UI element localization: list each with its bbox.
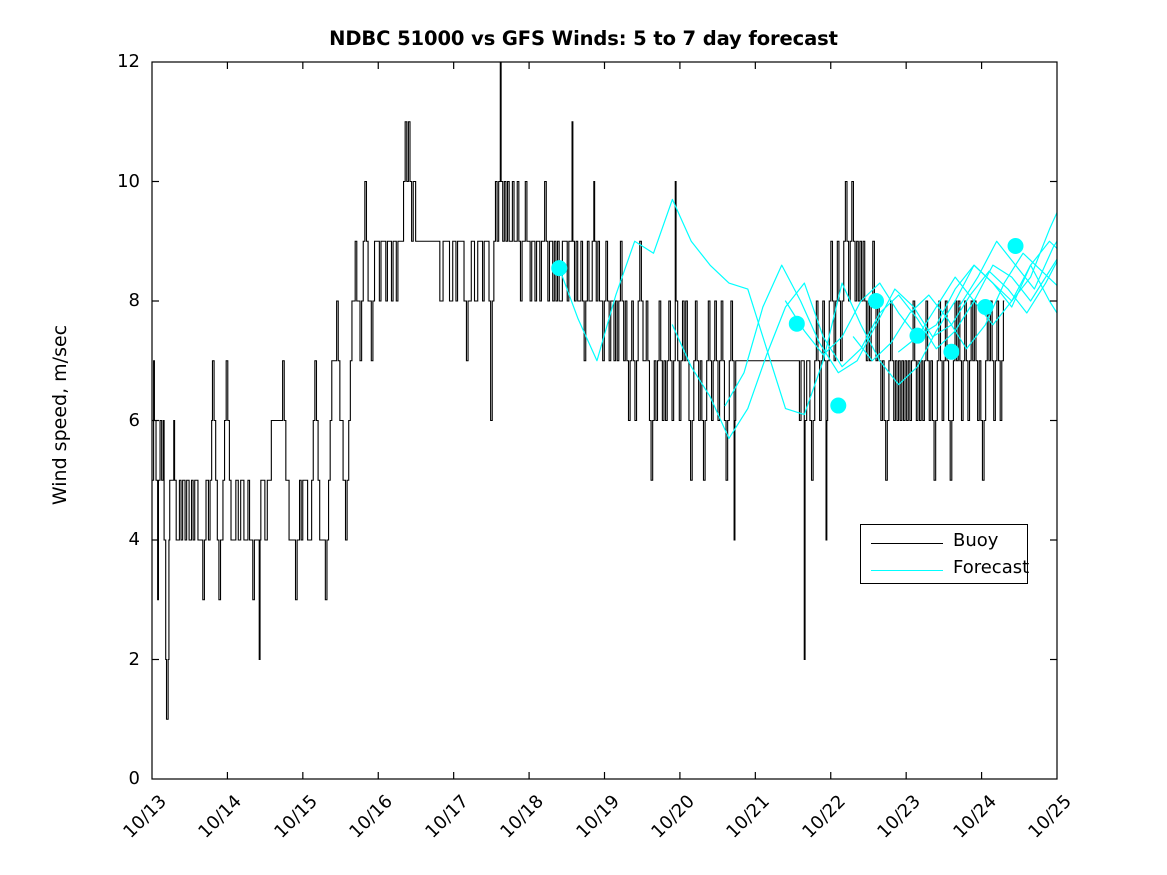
forecast-marker-8 [1008,239,1023,254]
forecast-marker-2 [789,316,804,331]
chart-figure: NDBC 51000 vs GFS Winds: 5 to 7 day fore… [0,0,1167,875]
legend-entry-buoy: Buoy [861,531,1029,557]
forecast-series-line-7 [959,217,1148,307]
plot-area [0,0,1167,875]
legend-label-forecast: Forecast [953,557,1029,578]
chart-legend: BuoyForecast [860,524,1028,584]
legend-entry-forecast: Forecast [861,558,1029,584]
forecast-marker-4 [869,294,884,309]
y-tick-label-2: 2 [100,649,140,670]
forecast-marker-3 [831,398,846,413]
legend-swatch-buoy [871,543,943,544]
y-tick-label-8: 8 [100,290,140,311]
y-tick-label-4: 4 [100,529,140,550]
forecast-marker-7 [978,299,993,314]
forecast-series-line-5 [853,211,1167,360]
y-tick-label-6: 6 [100,410,140,431]
forecast-marker-6 [944,344,959,359]
legend-label-buoy: Buoy [953,530,998,551]
buoy-series-line [152,62,1004,719]
y-tick-label-12: 12 [100,51,140,72]
legend-swatch-forecast [871,570,943,571]
forecast-marker-5 [910,328,925,343]
y-tick-label-10: 10 [100,171,140,192]
forecast-marker-1 [552,261,567,276]
clipped-series [152,62,1167,719]
y-tick-label-0: 0 [100,768,140,789]
